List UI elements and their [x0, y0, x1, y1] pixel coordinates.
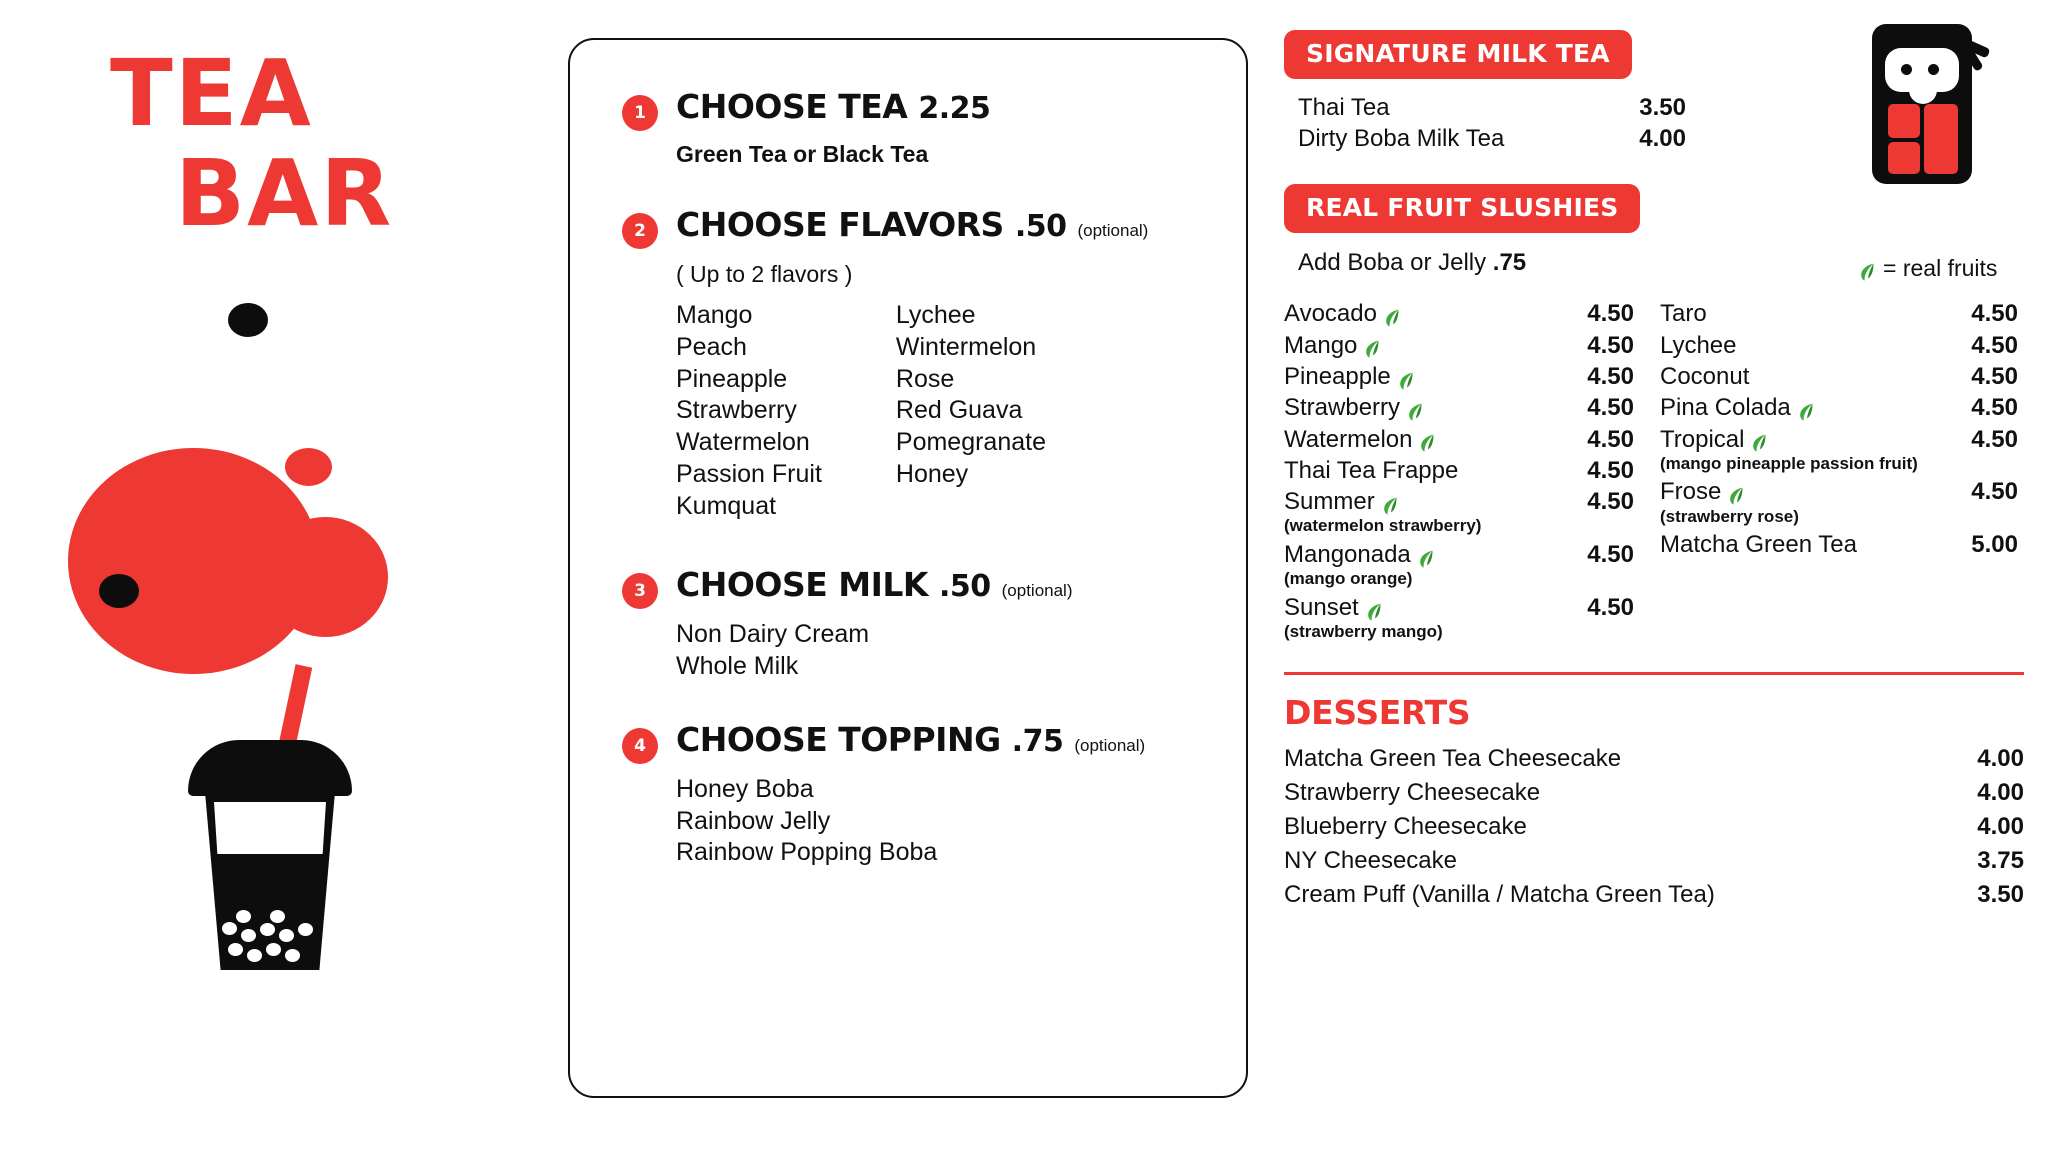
item-name: Matcha Green Tea — [1660, 530, 1857, 559]
step-choose-milk: 3 CHOOSE MILK .50 (optional) Non Dairy C… — [622, 566, 1212, 683]
step-title-text: CHOOSE TOPPING — [676, 720, 1001, 759]
topping-option: Rainbow Jelly — [676, 806, 1212, 838]
menu-row: Mango 4.50 — [1284, 331, 1634, 360]
item-name: Taro — [1660, 299, 1707, 328]
signature-milk-tea-list: Thai Tea 3.50 Dirty Boba Milk Tea 4.00 — [1298, 93, 2024, 154]
item-name: Cream Puff (Vanilla / Matcha Green Tea) — [1284, 878, 1904, 912]
menu-row: Taro 4.50 — [1660, 299, 2018, 328]
item-description: (strawberry rose) — [1660, 508, 2018, 527]
item-name-wrap: Sunset — [1284, 593, 1554, 622]
step-subtitle: Green Tea or Black Tea — [676, 141, 1212, 168]
decorative-dot-black-small-left — [99, 574, 139, 608]
brand-logo-line-1: TEA — [110, 48, 313, 140]
item-name-wrap: Strawberry — [1284, 393, 1554, 422]
item-name-wrap: Watermelon — [1284, 425, 1554, 454]
boba-pearl — [298, 923, 313, 936]
step-title: CHOOSE MILK .50 (optional) — [676, 566, 1073, 605]
menu-row: Thai Tea Frappe 4.50 — [1284, 456, 1634, 485]
flavor-item: Pineapple — [676, 364, 822, 396]
signature-milk-tea-heading: SIGNATURE MILK TEA — [1284, 30, 1632, 79]
leaf-icon — [1729, 483, 1744, 501]
item-name-wrap: Pina Colada — [1660, 393, 1938, 422]
menu-row: Coconut 4.50 — [1660, 362, 2018, 391]
step-price: .75 — [1012, 724, 1064, 759]
menu-row: Matcha Green Tea 5.00 — [1660, 530, 2018, 559]
item-name: Tropical — [1660, 425, 1744, 454]
item-price: 4.00 — [1904, 776, 2024, 810]
menu-row: Watermelon 4.50 — [1284, 425, 1634, 454]
menu-board: TEA BAR 1 — [0, 0, 2048, 1152]
item-name-wrap: Taro — [1660, 299, 1938, 328]
menu-row: Mangonada 4.50 — [1284, 540, 1634, 569]
item-price: 4.50 — [1554, 487, 1634, 516]
boba-pearl — [279, 929, 294, 942]
item-name: Dirty Boba Milk Tea — [1298, 124, 1598, 155]
item-price: 5.00 — [1938, 530, 2018, 559]
boba-pearl — [222, 922, 237, 935]
boba-pearl — [260, 923, 275, 936]
item-price: 3.50 — [1598, 93, 1686, 124]
item-price: 4.50 — [1554, 425, 1634, 454]
item-name: Mango — [1284, 331, 1357, 360]
item-name: Matcha Green Tea Cheesecake — [1284, 742, 1904, 776]
flavor-item: Wintermelon — [896, 332, 1046, 364]
step-title: CHOOSE FLAVORS .50 (optional) — [676, 206, 1148, 245]
topping-option: Rainbow Popping Boba — [676, 837, 1212, 869]
flavor-item: Rose — [896, 364, 1046, 396]
topping-options: Honey Boba Rainbow Jelly Rainbow Popping… — [676, 774, 1212, 869]
step-number-badge: 1 — [622, 95, 658, 131]
leaf-icon — [1365, 336, 1380, 354]
item-price: 4.50 — [1554, 540, 1634, 569]
step-title: CHOOSE TOPPING .75 (optional) — [676, 721, 1145, 760]
step-price: .50 — [1015, 209, 1067, 244]
step-optional-note: (optional) — [1002, 581, 1073, 600]
item-name-wrap: Frose — [1660, 477, 1938, 506]
flavor-item: Kumquat — [676, 491, 822, 523]
item-name-wrap: Thai Tea Frappe — [1284, 456, 1554, 485]
item-name: Frose — [1660, 477, 1721, 506]
item-description: (mango orange) — [1284, 570, 1634, 589]
item-description: (strawberry mango) — [1284, 623, 1634, 642]
right-menu-column: SIGNATURE MILK TEA Thai Tea 3.50 Dirty B… — [1284, 30, 2024, 912]
item-name-wrap: Matcha Green Tea — [1660, 530, 1938, 559]
slushies-columns: Avocado 4.50 Mango 4.50 Pineapple — [1284, 299, 2024, 645]
item-price: 4.50 — [1554, 362, 1634, 391]
item-name: Pineapple — [1284, 362, 1391, 391]
item-price: 4.50 — [1554, 393, 1634, 422]
leaf-icon — [1799, 399, 1814, 417]
boba-pearl — [270, 910, 285, 923]
brand-panel: TEA BAR — [0, 0, 560, 1152]
item-name-wrap: Pineapple — [1284, 362, 1554, 391]
flavor-item: Lychee — [896, 300, 1046, 332]
milk-option: Non Dairy Cream — [676, 619, 1212, 651]
flavor-columns: Mango Peach Pineapple Strawberry Waterme… — [676, 300, 1212, 522]
step-choose-topping: 4 CHOOSE TOPPING .75 (optional) Honey Bo… — [622, 721, 1212, 869]
item-name: Strawberry — [1284, 393, 1400, 422]
item-price: 4.50 — [1938, 362, 2018, 391]
add-boba-or-jelly-note: Add Boba or Jelly .75 — [1298, 249, 2024, 277]
item-name: Thai Tea Frappe — [1284, 456, 1458, 485]
item-name-wrap: Coconut — [1660, 362, 1938, 391]
topping-option: Honey Boba — [676, 774, 1212, 806]
step-choose-tea: 1 CHOOSE TEA 2.25 Green Tea or Black Tea — [622, 88, 1212, 168]
flavor-item: Peach — [676, 332, 822, 364]
item-name-wrap: Mangonada — [1284, 540, 1554, 569]
leaf-icon — [1383, 493, 1398, 511]
item-name: Watermelon — [1284, 425, 1412, 454]
item-name: Sunset — [1284, 593, 1359, 622]
menu-row: Cream Puff (Vanilla / Matcha Green Tea) … — [1284, 878, 2024, 912]
item-name: Avocado — [1284, 299, 1377, 328]
boba-cup-illustration — [200, 740, 340, 970]
leaf-icon — [1752, 430, 1767, 448]
menu-row: Thai Tea 3.50 — [1298, 93, 2024, 124]
flavor-item: Honey — [896, 459, 1046, 491]
flavor-item: Watermelon — [676, 427, 822, 459]
boba-pearl — [285, 949, 300, 962]
menu-row: Avocado 4.50 — [1284, 299, 1634, 328]
brand-logo-line-2: BAR — [175, 148, 393, 240]
item-price: 4.50 — [1554, 456, 1634, 485]
step-title-text: CHOOSE TEA — [676, 87, 907, 126]
item-price: 4.50 — [1938, 299, 2018, 328]
section-divider — [1284, 672, 2024, 675]
add-on-price: .75 — [1493, 249, 1526, 276]
step-optional-note: (optional) — [1074, 736, 1145, 755]
item-name-wrap: Tropical — [1660, 425, 1938, 454]
step-price: 2.25 — [918, 91, 990, 126]
step-number-badge: 3 — [622, 573, 658, 609]
step-number-badge: 4 — [622, 728, 658, 764]
milk-options: Non Dairy Cream Whole Milk — [676, 619, 1212, 683]
item-name-wrap: Summer — [1284, 487, 1554, 516]
leaf-icon — [1408, 399, 1423, 417]
leaf-icon — [1385, 305, 1400, 323]
flavor-item: Strawberry — [676, 395, 822, 427]
step-optional-note: (optional) — [1077, 221, 1148, 240]
flavor-item: Passion Fruit — [676, 459, 822, 491]
item-name: Coconut — [1660, 362, 1749, 391]
menu-row: Blueberry Cheesecake 4.00 — [1284, 810, 2024, 844]
item-name: Blueberry Cheesecake — [1284, 810, 1904, 844]
boba-pearl — [236, 910, 251, 923]
item-price: 3.50 — [1904, 878, 2024, 912]
step-title: CHOOSE TEA 2.25 — [676, 88, 990, 127]
decorative-dot-red-small — [285, 448, 332, 486]
desserts-list: Matcha Green Tea Cheesecake 4.00 Strawbe… — [1284, 742, 2024, 912]
item-name: Thai Tea — [1298, 93, 1598, 124]
menu-row: Strawberry 4.50 — [1284, 393, 1634, 422]
leaf-icon — [1399, 368, 1414, 386]
item-price: 4.50 — [1938, 393, 2018, 422]
menu-row: Tropical 4.50 — [1660, 425, 2018, 454]
flavor-column-a: Mango Peach Pineapple Strawberry Waterme… — [676, 300, 822, 522]
item-name: Summer — [1284, 487, 1375, 516]
menu-row: Lychee 4.50 — [1660, 331, 2018, 360]
item-name: Lychee — [1660, 331, 1737, 360]
cup-window — [214, 802, 326, 854]
boba-pearl — [241, 929, 256, 942]
item-name: Strawberry Cheesecake — [1284, 776, 1904, 810]
item-price: 4.50 — [1938, 425, 2018, 454]
item-name-wrap: Avocado — [1284, 299, 1554, 328]
menu-row: Dirty Boba Milk Tea 4.00 — [1298, 124, 2024, 155]
flavor-item: Mango — [676, 300, 822, 332]
boba-pearl — [266, 943, 281, 956]
item-name-wrap: Lychee — [1660, 331, 1938, 360]
milk-option: Whole Milk — [676, 651, 1212, 683]
slushies-column-right: Taro 4.50 Lychee 4.50 Coconut 4.50 — [1660, 299, 2018, 645]
step-number-badge: 2 — [622, 213, 658, 249]
menu-row: NY Cheesecake 3.75 — [1284, 844, 2024, 878]
item-price: 4.50 — [1554, 331, 1634, 360]
boba-pearl — [228, 943, 243, 956]
item-name: NY Cheesecake — [1284, 844, 1904, 878]
item-price: 4.00 — [1904, 810, 2024, 844]
item-description: (watermelon strawberry) — [1284, 517, 1634, 536]
flavor-column-b: Lychee Wintermelon Rose Red Guava Pomegr… — [896, 300, 1046, 522]
item-price: 4.50 — [1938, 477, 2018, 506]
build-your-drink-card: 1 CHOOSE TEA 2.25 Green Tea or Black Tea… — [568, 38, 1248, 1098]
add-on-label: Add Boba or Jelly — [1298, 249, 1486, 276]
menu-row: Frose 4.50 — [1660, 477, 2018, 506]
step-title-text: CHOOSE FLAVORS — [676, 205, 1004, 244]
flavor-limit-note: ( Up to 2 flavors ) — [676, 261, 1212, 288]
step-title-text: CHOOSE MILK — [676, 565, 928, 604]
item-name-wrap: Mango — [1284, 331, 1554, 360]
menu-row: Strawberry Cheesecake 4.00 — [1284, 776, 2024, 810]
slushies-column-left: Avocado 4.50 Mango 4.50 Pineapple — [1284, 299, 1634, 645]
menu-row: Sunset 4.50 — [1284, 593, 1634, 622]
cup-lid — [188, 740, 352, 796]
item-price: 3.75 — [1904, 844, 2024, 878]
item-description: (mango pineapple passion fruit) — [1660, 455, 2018, 474]
leaf-icon — [1367, 599, 1382, 617]
item-name: Mangonada — [1284, 540, 1411, 569]
menu-row: Pineapple 4.50 — [1284, 362, 1634, 391]
menu-row: Pina Colada 4.50 — [1660, 393, 2018, 422]
menu-row: Summer 4.50 — [1284, 487, 1634, 516]
leaf-icon — [1420, 430, 1435, 448]
decorative-circle-red-medium — [263, 517, 388, 637]
item-price: 4.00 — [1598, 124, 1686, 155]
step-choose-flavors: 2 CHOOSE FLAVORS .50 (optional) ( Up to … — [622, 206, 1212, 522]
real-fruit-slushies-heading: REAL FRUIT SLUSHIES — [1284, 184, 1640, 233]
leaf-icon — [1419, 546, 1434, 564]
item-price: 4.00 — [1904, 742, 2024, 776]
flavor-item: Red Guava — [896, 395, 1046, 427]
decorative-dot-black-small-top — [228, 303, 268, 337]
item-price: 4.50 — [1938, 331, 2018, 360]
item-price: 4.50 — [1554, 299, 1634, 328]
boba-pearl — [247, 949, 262, 962]
flavor-item: Pomegranate — [896, 427, 1046, 459]
menu-row: Matcha Green Tea Cheesecake 4.00 — [1284, 742, 2024, 776]
desserts-heading: DESSERTS — [1284, 693, 2024, 732]
item-price: 4.50 — [1554, 593, 1634, 622]
step-price: .50 — [939, 569, 991, 604]
item-name: Pina Colada — [1660, 393, 1791, 422]
